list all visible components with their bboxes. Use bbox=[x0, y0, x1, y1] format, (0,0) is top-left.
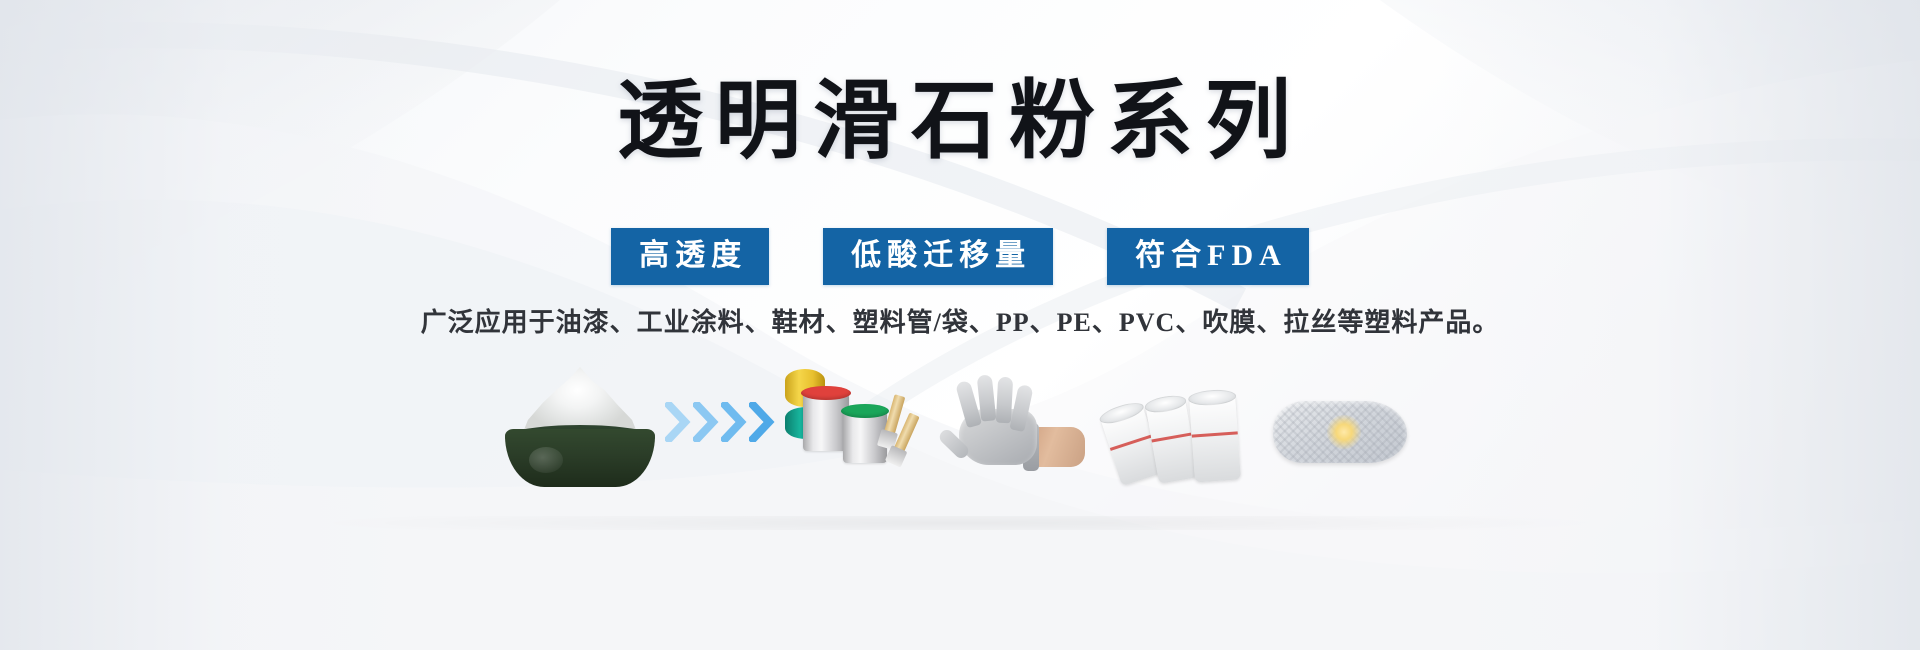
film-roll-stripe bbox=[1151, 433, 1191, 443]
insole-highlight bbox=[1327, 415, 1361, 449]
gloved-hand-icon bbox=[945, 375, 1095, 487]
page-title: 透明滑石粉系列 bbox=[0, 78, 1920, 164]
product-paint-cans bbox=[780, 357, 940, 487]
process-arrow-group bbox=[660, 357, 780, 487]
ground-shadow bbox=[0, 516, 1920, 530]
film-roll bbox=[1189, 394, 1241, 483]
paint-can-green-lid bbox=[841, 404, 889, 418]
film-roll-stripe bbox=[1192, 431, 1238, 437]
product-application-image-row bbox=[0, 352, 1920, 492]
status-badge-low-acid-migration: 低酸迁移量 bbox=[823, 228, 1053, 285]
product-talc-powder-bowl bbox=[500, 357, 660, 487]
product-gloved-hand bbox=[940, 357, 1100, 487]
glove-finger bbox=[996, 377, 1013, 424]
product-banner: 透明滑石粉系列 高透度 低酸迁移量 符合FDA 广泛应用于油漆、工业涂料、鞋材、… bbox=[0, 0, 1920, 650]
bowl-body bbox=[505, 429, 655, 487]
status-badge-fda-compliant: 符合FDA bbox=[1107, 228, 1309, 285]
talc-powder-bowl-icon bbox=[500, 375, 660, 487]
shoe-insole-icon bbox=[1265, 379, 1415, 487]
application-description: 广泛应用于油漆、工业涂料、鞋材、塑料管/袋、PP、PE、PVC、吹膜、拉丝等塑料… bbox=[0, 302, 1920, 339]
paint-can-red-lid bbox=[801, 386, 851, 400]
film-rolls-icon bbox=[1100, 375, 1260, 487]
bowl-highlight bbox=[529, 447, 563, 473]
film-roll-end bbox=[1144, 393, 1188, 415]
status-badge-high-transparency: 高透度 bbox=[611, 228, 769, 285]
feature-badge-group: 高透度 低酸迁移量 符合FDA bbox=[0, 228, 1920, 285]
film-roll-stripe bbox=[1110, 434, 1153, 450]
product-shoe-insole bbox=[1260, 357, 1420, 487]
film-roll-end bbox=[1097, 399, 1145, 427]
product-film-rolls bbox=[1100, 357, 1260, 487]
chevron-right-icon bbox=[665, 402, 775, 442]
paint-cans-icon bbox=[785, 369, 935, 487]
film-roll-end bbox=[1188, 388, 1237, 406]
